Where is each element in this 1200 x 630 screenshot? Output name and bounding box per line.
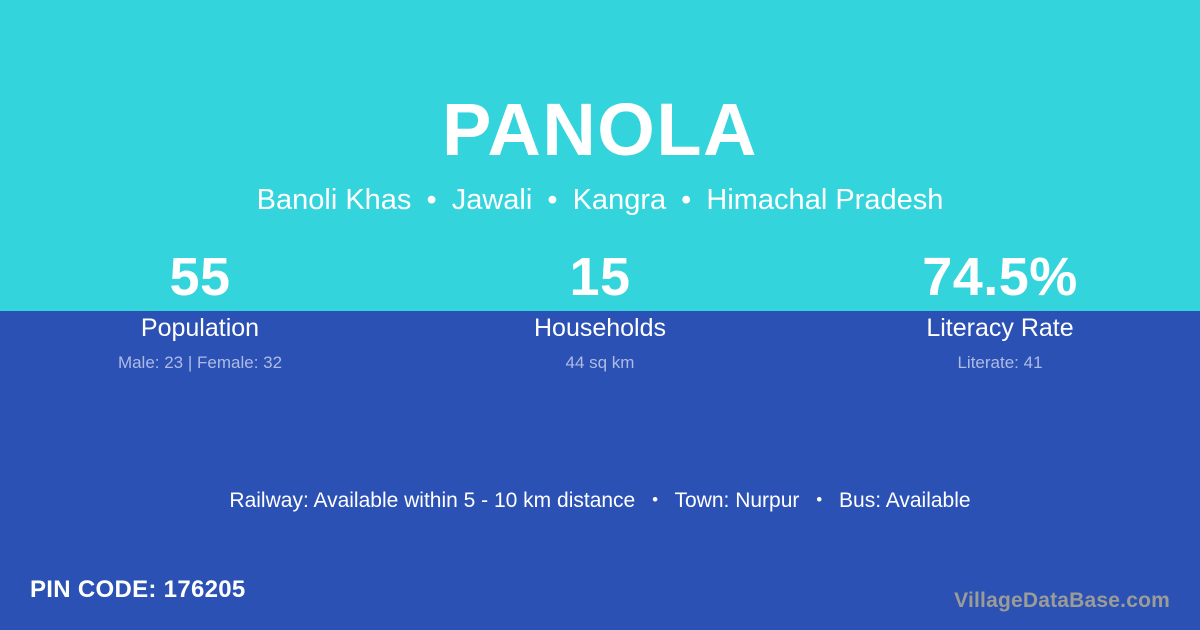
site-branding: VillageDataBase.com	[954, 588, 1170, 614]
stat-population-label: Population	[0, 313, 400, 343]
amenity-separator: •	[805, 490, 833, 509]
breadcrumb: Banoli Khas • Jawali • Kangra • Himachal…	[0, 182, 1200, 218]
stat-households-detail: 44 sq km	[400, 352, 800, 374]
village-info-card: PANOLA Banoli Khas • Jawali • Kangra • H…	[0, 0, 1200, 630]
stat-literacy-rate-label: Literacy Rate	[800, 313, 1200, 343]
breadcrumb-item-district: Kangra	[573, 184, 667, 216]
breadcrumb-separator: •	[674, 184, 698, 216]
breadcrumb-item-state: Himachal Pradesh	[706, 184, 943, 216]
stat-literacy-rate-detail: Literate: 41	[800, 352, 1200, 374]
pin-code: PIN CODE: 176205	[30, 575, 246, 605]
amenity-separator: •	[641, 490, 669, 509]
stat-households-label: Households	[400, 313, 800, 343]
stat-literacy-rate: 74.5% Literacy Rate Literate: 41	[800, 246, 1200, 386]
breadcrumb-separator: •	[540, 184, 564, 216]
amenity-railway: Railway: Available within 5 - 10 km dist…	[229, 489, 635, 512]
stat-population: 55 Population Male: 23 | Female: 32	[0, 246, 400, 386]
breadcrumb-item-tehsil: Jawali	[452, 184, 533, 216]
breadcrumb-separator: •	[420, 184, 444, 216]
stat-literacy-rate-value: 74.5%	[800, 246, 1200, 308]
stat-population-detail: Male: 23 | Female: 32	[0, 352, 400, 374]
page-title: PANOLA	[0, 88, 1200, 172]
statistics-row: 55 Population Male: 23 | Female: 32 15 H…	[0, 246, 1200, 386]
amenity-bus: Bus: Available	[839, 489, 971, 512]
amenities-line: Railway: Available within 5 - 10 km dist…	[0, 486, 1200, 515]
breadcrumb-item-village: Banoli Khas	[257, 184, 412, 216]
amenity-town: Town: Nurpur	[675, 489, 800, 512]
stat-population-value: 55	[0, 246, 400, 308]
stat-households: 15 Households 44 sq km	[400, 246, 800, 386]
stat-households-value: 15	[400, 246, 800, 308]
